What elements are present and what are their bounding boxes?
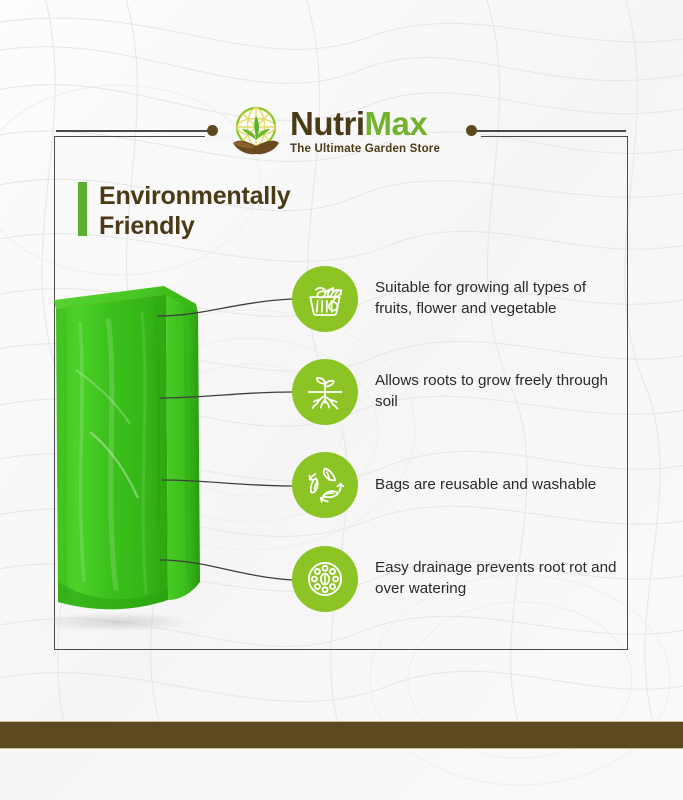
feature-label: Bags are reusable and washable (375, 475, 596, 496)
feature-label: Suitable for growing all types of fruits… (375, 278, 625, 320)
plant-roots-icon (292, 359, 358, 425)
feature-row: Easy drainage prevents root rot and over… (292, 546, 625, 612)
feature-row: Allows roots to grow freely through soil (292, 359, 625, 425)
brand-logo: NutriMax The Ultimate Garden Store (228, 98, 460, 164)
feature-row: Bags are reusable and washable (292, 452, 596, 518)
brand-name-part2: Max (365, 105, 428, 142)
brand-tagline: The Ultimate Garden Store (290, 143, 440, 155)
recycle-leaves-icon (292, 452, 358, 518)
brand-wordmark-block: NutriMax The Ultimate Garden Store (290, 107, 440, 155)
feature-label: Easy drainage prevents root rot and over… (375, 558, 625, 600)
feature-row: Suitable for growing all types of fruits… (292, 266, 625, 332)
brand-name-part1: Nutri (290, 105, 365, 142)
headline-accent-bar (78, 182, 87, 236)
bottom-brown-band (0, 721, 683, 749)
feature-label: Allows roots to grow freely through soil (375, 371, 625, 413)
headline-block: Environmentally Friendly (78, 182, 291, 241)
logo-leader-line-left (56, 130, 208, 132)
page-title: Environmentally Friendly (99, 182, 291, 241)
vegetable-basket-icon (292, 266, 358, 332)
headline-line-2: Friendly (99, 212, 291, 242)
logo-leader-line-right (474, 130, 626, 132)
grow-bag-product-image (46, 282, 212, 630)
decorative-dot-left (207, 125, 218, 136)
leaf-globe-in-hand-icon (228, 103, 284, 159)
headline-line-1: Environmentally (99, 182, 291, 212)
drainage-holes-icon (292, 546, 358, 612)
brand-wordmark: NutriMax (290, 107, 440, 140)
decorative-dot-right (466, 125, 477, 136)
